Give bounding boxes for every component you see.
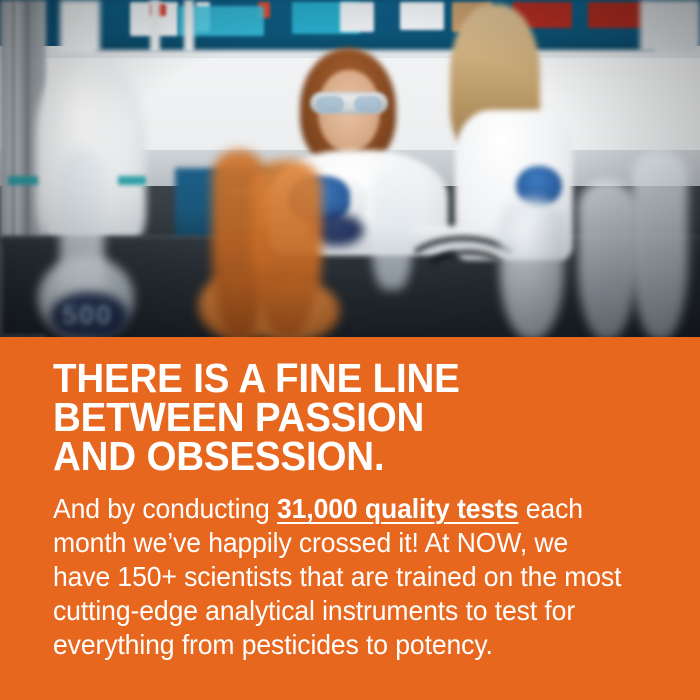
photo-scene: 500 [0,0,700,337]
body-copy: And by conducting 31,000 quality tests e… [53,492,632,662]
laboratory-photo: 500 [0,0,700,337]
body-text-emphasis: 31,000 quality tests [277,493,518,524]
marketing-banner: 500 THERE IS A FINE LINE BETWEEN PASSION… [0,0,700,700]
photo-vignette [0,0,700,337]
orange-message-panel: THERE IS A FINE LINE BETWEEN PASSION AND… [0,337,700,700]
headline: THERE IS A FINE LINE BETWEEN PASSION AND… [53,359,626,476]
body-text-before: And by conducting [53,493,277,524]
